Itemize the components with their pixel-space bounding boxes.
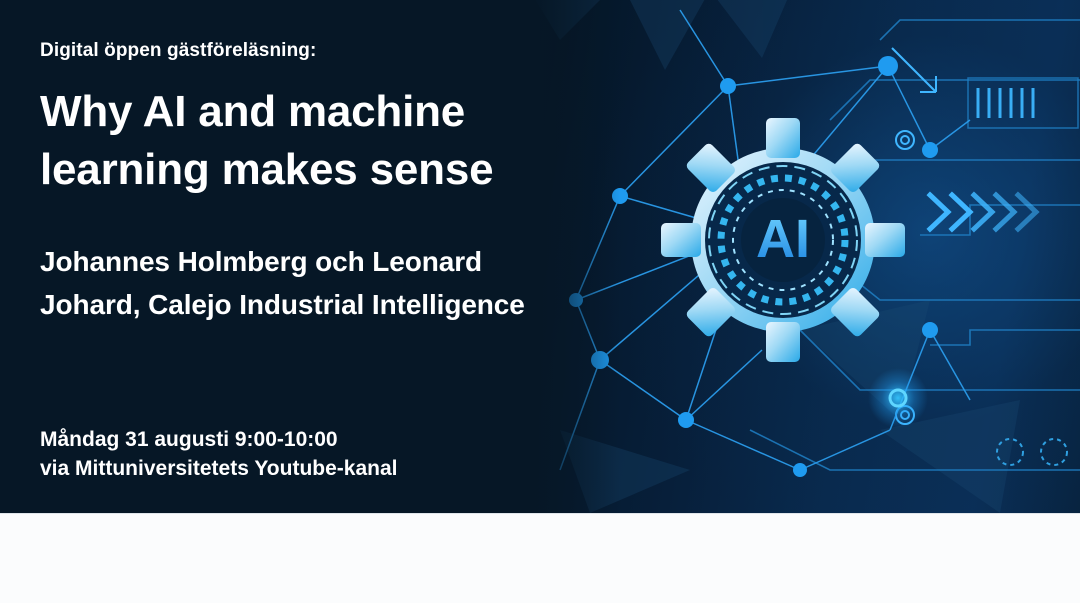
event-poster: AI Digital öppen gästföreläsning: Why AI… xyxy=(0,0,1080,603)
event-channel-line: via Mittuniversitetets Youtube-kanal xyxy=(40,454,550,483)
logo-footer: KK·stiftelsen ★ ★ ★ ★ ★ ★ ★ ★ ★ ★ ★ ★ xyxy=(0,513,1080,603)
chevron-arrows-icon xyxy=(930,195,1036,229)
page-title: Why AI and machine learning makes sense xyxy=(40,83,550,199)
eyebrow-text: Digital öppen gästföreläsning: xyxy=(40,40,316,62)
bar-chip-icon xyxy=(978,88,1033,118)
gear-ai-label: AI xyxy=(756,209,810,269)
event-date-line: Måndag 31 augusti 9:00-10:00 xyxy=(40,425,550,454)
event-datetime: Måndag 31 augusti 9:00-10:00 via Mittuni… xyxy=(40,425,550,483)
speakers-text: Johannes Holmberg och Leonard Johard, Ca… xyxy=(40,240,550,326)
ai-gear: AI xyxy=(661,118,905,362)
hero-section: AI Digital öppen gästföreläsning: Why AI… xyxy=(0,0,1080,513)
arrow-icon xyxy=(892,48,936,92)
glow-node xyxy=(868,368,928,428)
